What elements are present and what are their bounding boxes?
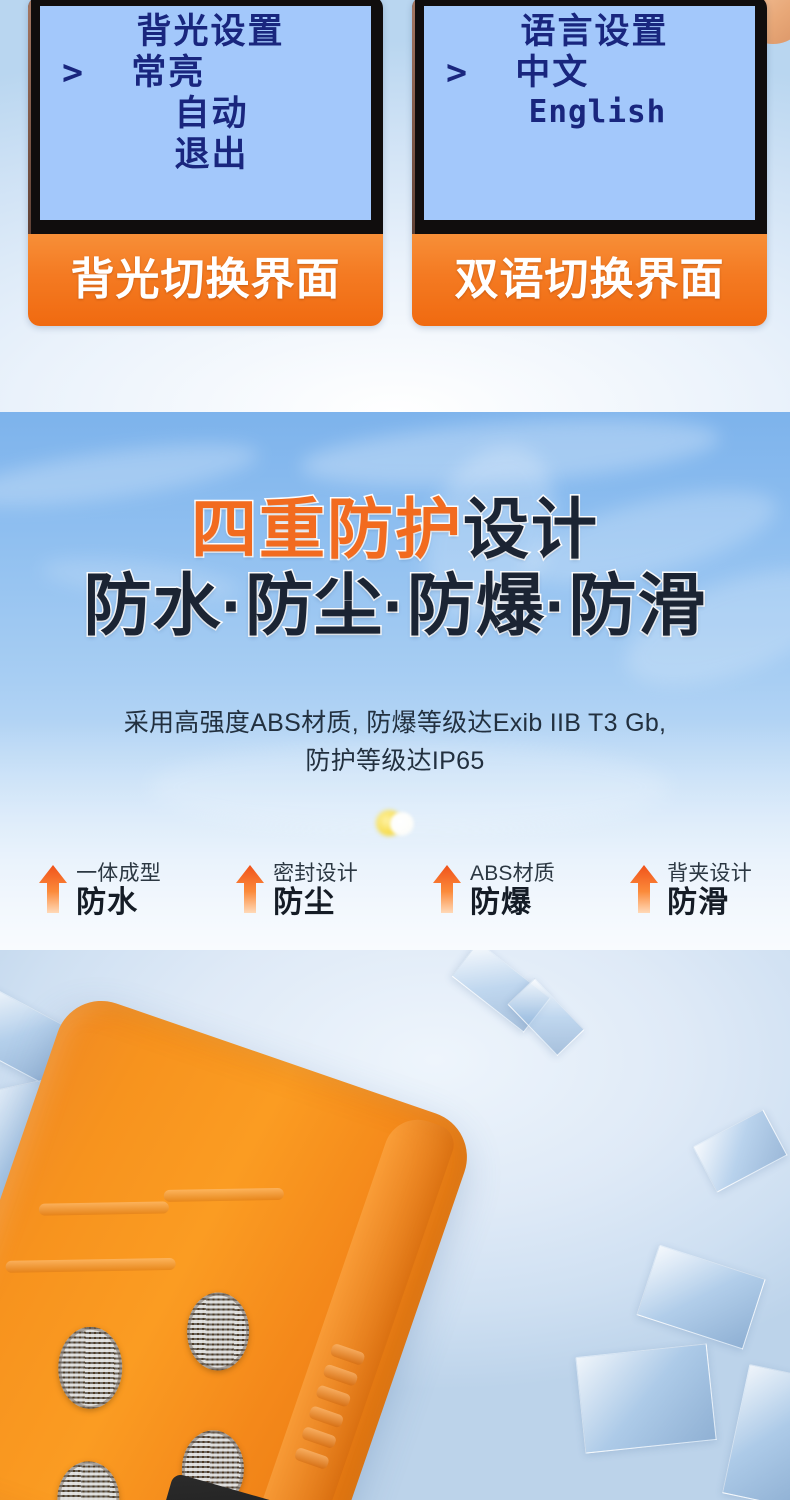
glass-shard	[692, 1109, 787, 1192]
glass-shard	[722, 1364, 790, 1500]
lcd-screen-language: 语言设置 > 中文 English	[424, 6, 755, 220]
feature-title: 防滑	[667, 886, 729, 919]
feature-title: 防水	[76, 886, 138, 919]
hero-subheadline: 防水·防尘·防爆·防滑	[0, 570, 790, 643]
feature-title: 防尘	[273, 886, 335, 919]
feature-subtitle: 背夹设计	[667, 862, 752, 885]
arrow-up-icon	[38, 863, 68, 920]
feature-text-block: 一体成型 防水	[76, 862, 161, 921]
feature-text-block: 密封设计 防尘	[273, 862, 358, 921]
caption-text-language: 双语切换界面	[455, 258, 725, 302]
device-panel-groove	[6, 1258, 176, 1273]
feature-text-block: ABS材质 防爆	[470, 862, 555, 921]
sensor-grille	[57, 1461, 120, 1500]
device-panel-groove	[164, 1188, 284, 1202]
feature-list: 一体成型 防水 密封设计 防尘 ABS材质 防爆	[0, 862, 790, 921]
hero-headline-block: 四重防护设计 防水·防尘·防爆·防滑	[0, 495, 790, 644]
gas-detector-device: ◀ ⏻ ▶	[0, 988, 517, 1500]
description-line-1: 采用高强度ABS材质, 防爆等级达Exib IIB T3 Gb,	[0, 705, 790, 743]
arrow-up-icon	[432, 863, 462, 920]
sensor-grille	[186, 1292, 249, 1371]
glass-shard	[636, 1245, 765, 1350]
description-line-2: 防护等级达IP65	[0, 743, 790, 781]
feature-item-explosionproof: ABS材质 防爆	[395, 862, 592, 921]
lcd-screen-backlight: 背光设置 > 常亮 自动 退出	[40, 6, 371, 220]
lcd-selected-language[interactable]: > 中文	[428, 53, 751, 94]
hero-headline: 四重防护设计	[0, 495, 790, 564]
lcd-option-backlight-exit[interactable]: 退出	[44, 135, 367, 176]
lcd-title-backlight: 背光设置	[44, 12, 367, 53]
lcd-bezel-backlight: 背光设置 > 常亮 自动 退出	[28, 0, 383, 234]
headline-dark-part: 设计	[463, 492, 599, 566]
screen-card-language: 语言设置 > 中文 English 双语切换界面	[412, 0, 767, 326]
lcd-option-language-english[interactable]: English	[428, 94, 751, 130]
product-photo-section: ◀ ⏻ ▶	[0, 950, 790, 1500]
lcd-bezel-language: 语言设置 > 中文 English	[412, 0, 767, 234]
caption-bar-language: 双语切换界面	[412, 234, 767, 326]
screen-card-backlight: 背光设置 > 常亮 自动 退出 背光切换界面	[28, 0, 383, 326]
caption-text-backlight: 背光切换界面	[71, 258, 341, 302]
feature-item-waterproof: 一体成型 防水	[1, 862, 198, 921]
feature-item-antislip: 背夹设计 防滑	[592, 862, 789, 921]
feature-title: 防爆	[470, 886, 532, 919]
feature-subtitle: 密封设计	[273, 862, 358, 885]
arrow-up-icon	[629, 863, 659, 920]
device-body: ◀ ⏻ ▶	[0, 988, 479, 1500]
device-side-rim	[234, 1111, 459, 1500]
caption-bar-backlight: 背光切换界面	[28, 234, 383, 326]
glass-shard	[575, 1343, 716, 1453]
device-panel-groove	[39, 1201, 169, 1215]
arrow-up-icon	[235, 863, 265, 920]
hero-description: 采用高强度ABS材质, 防爆等级达Exib IIB T3 Gb, 防护等级达IP…	[0, 705, 790, 780]
feature-subtitle: ABS材质	[470, 862, 555, 885]
lcd-title-language: 语言设置	[428, 12, 751, 53]
feature-text-block: 背夹设计 防滑	[667, 862, 752, 921]
lcd-selected-backlight[interactable]: > 常亮	[44, 53, 367, 94]
bokeh-orb-white	[390, 812, 414, 836]
feature-item-dustproof: 密封设计 防尘	[198, 862, 395, 921]
product-detail-page: 背光设置 > 常亮 自动 退出 背光切换界面 语言设置 > 中文 English	[0, 0, 790, 1500]
headline-orange-part: 四重防护	[191, 492, 463, 566]
feature-subtitle: 一体成型	[76, 862, 161, 885]
sensor-grille	[58, 1326, 123, 1409]
lcd-option-backlight-auto[interactable]: 自动	[44, 94, 367, 135]
lcd-screens-section: 背光设置 > 常亮 自动 退出 背光切换界面 语言设置 > 中文 English	[0, 0, 790, 412]
